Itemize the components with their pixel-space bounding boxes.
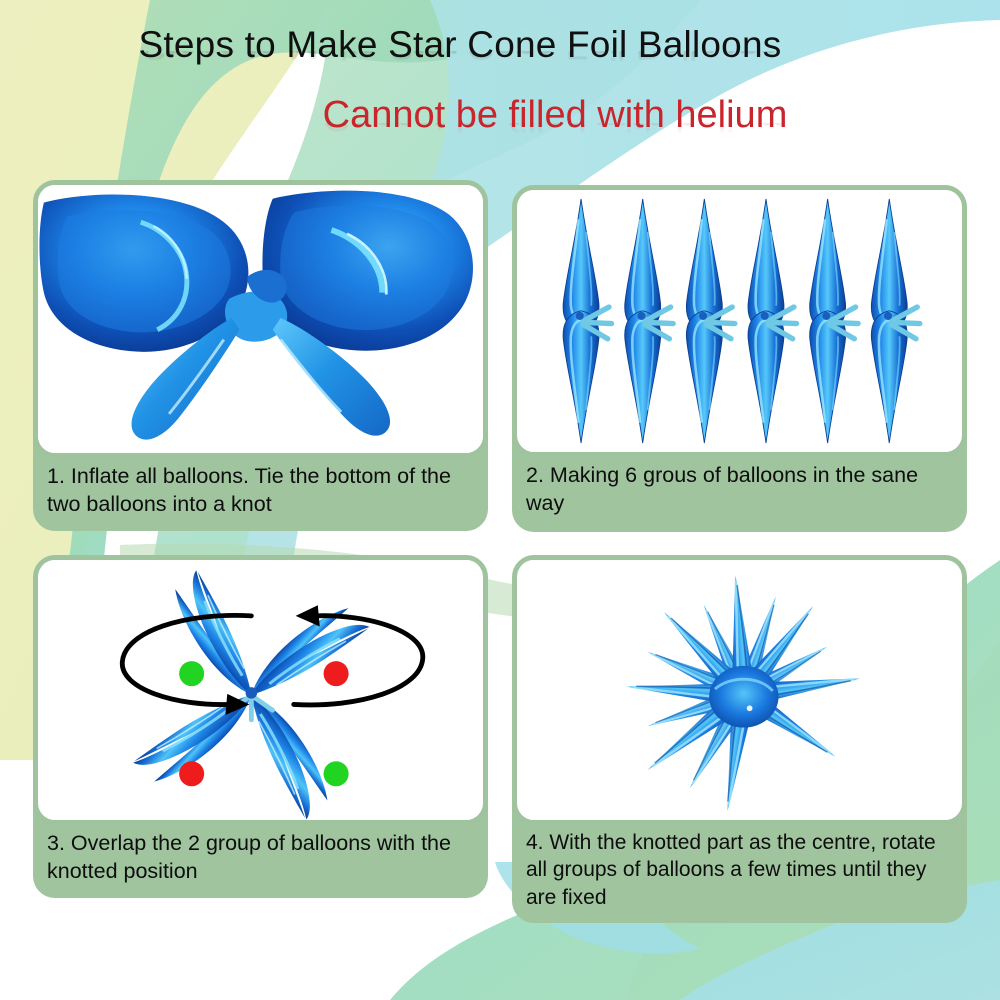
overlapped-balloon-groups-photo [38, 560, 483, 820]
red-dot-upper-right [324, 661, 349, 686]
green-dot-lower-right [324, 761, 349, 786]
step-card-1: 1. Inflate all balloons. Tie the bottom … [33, 180, 488, 531]
title-block: Steps to Make Star Cone Foil Balloons St… [0, 26, 1000, 79]
two-tied-foil-balloons-photo [38, 185, 483, 453]
step-card-4: 4. With the knotted part as the centre, … [512, 555, 967, 923]
subtitle-block: Cannot be filled with helium Cannot be f… [0, 96, 1000, 149]
green-dot-upper-left [179, 661, 204, 686]
warning-subtitle-reflection: Cannot be filled with helium [0, 123, 1000, 136]
infographic-page: Steps to Make Star Cone Foil Balloons St… [0, 0, 1000, 1000]
step-card-2: 2. Making 6 grous of balloons in the san… [512, 185, 967, 532]
page-title-reflection: Steps to Make Star Cone Foil Balloons [0, 51, 1000, 65]
six-groups-of-cone-balloons-photo [517, 190, 962, 452]
step-1-photo-frame [33, 180, 488, 458]
step-card-3: 3. Overlap the 2 group of balloons with … [33, 555, 488, 898]
step-4-photo-frame [512, 555, 967, 825]
red-dot-lower-left [179, 761, 204, 786]
step-2-photo-frame [512, 185, 967, 457]
finished-star-cone-balloon-photo [517, 560, 962, 820]
step-3-photo-frame [33, 555, 488, 825]
